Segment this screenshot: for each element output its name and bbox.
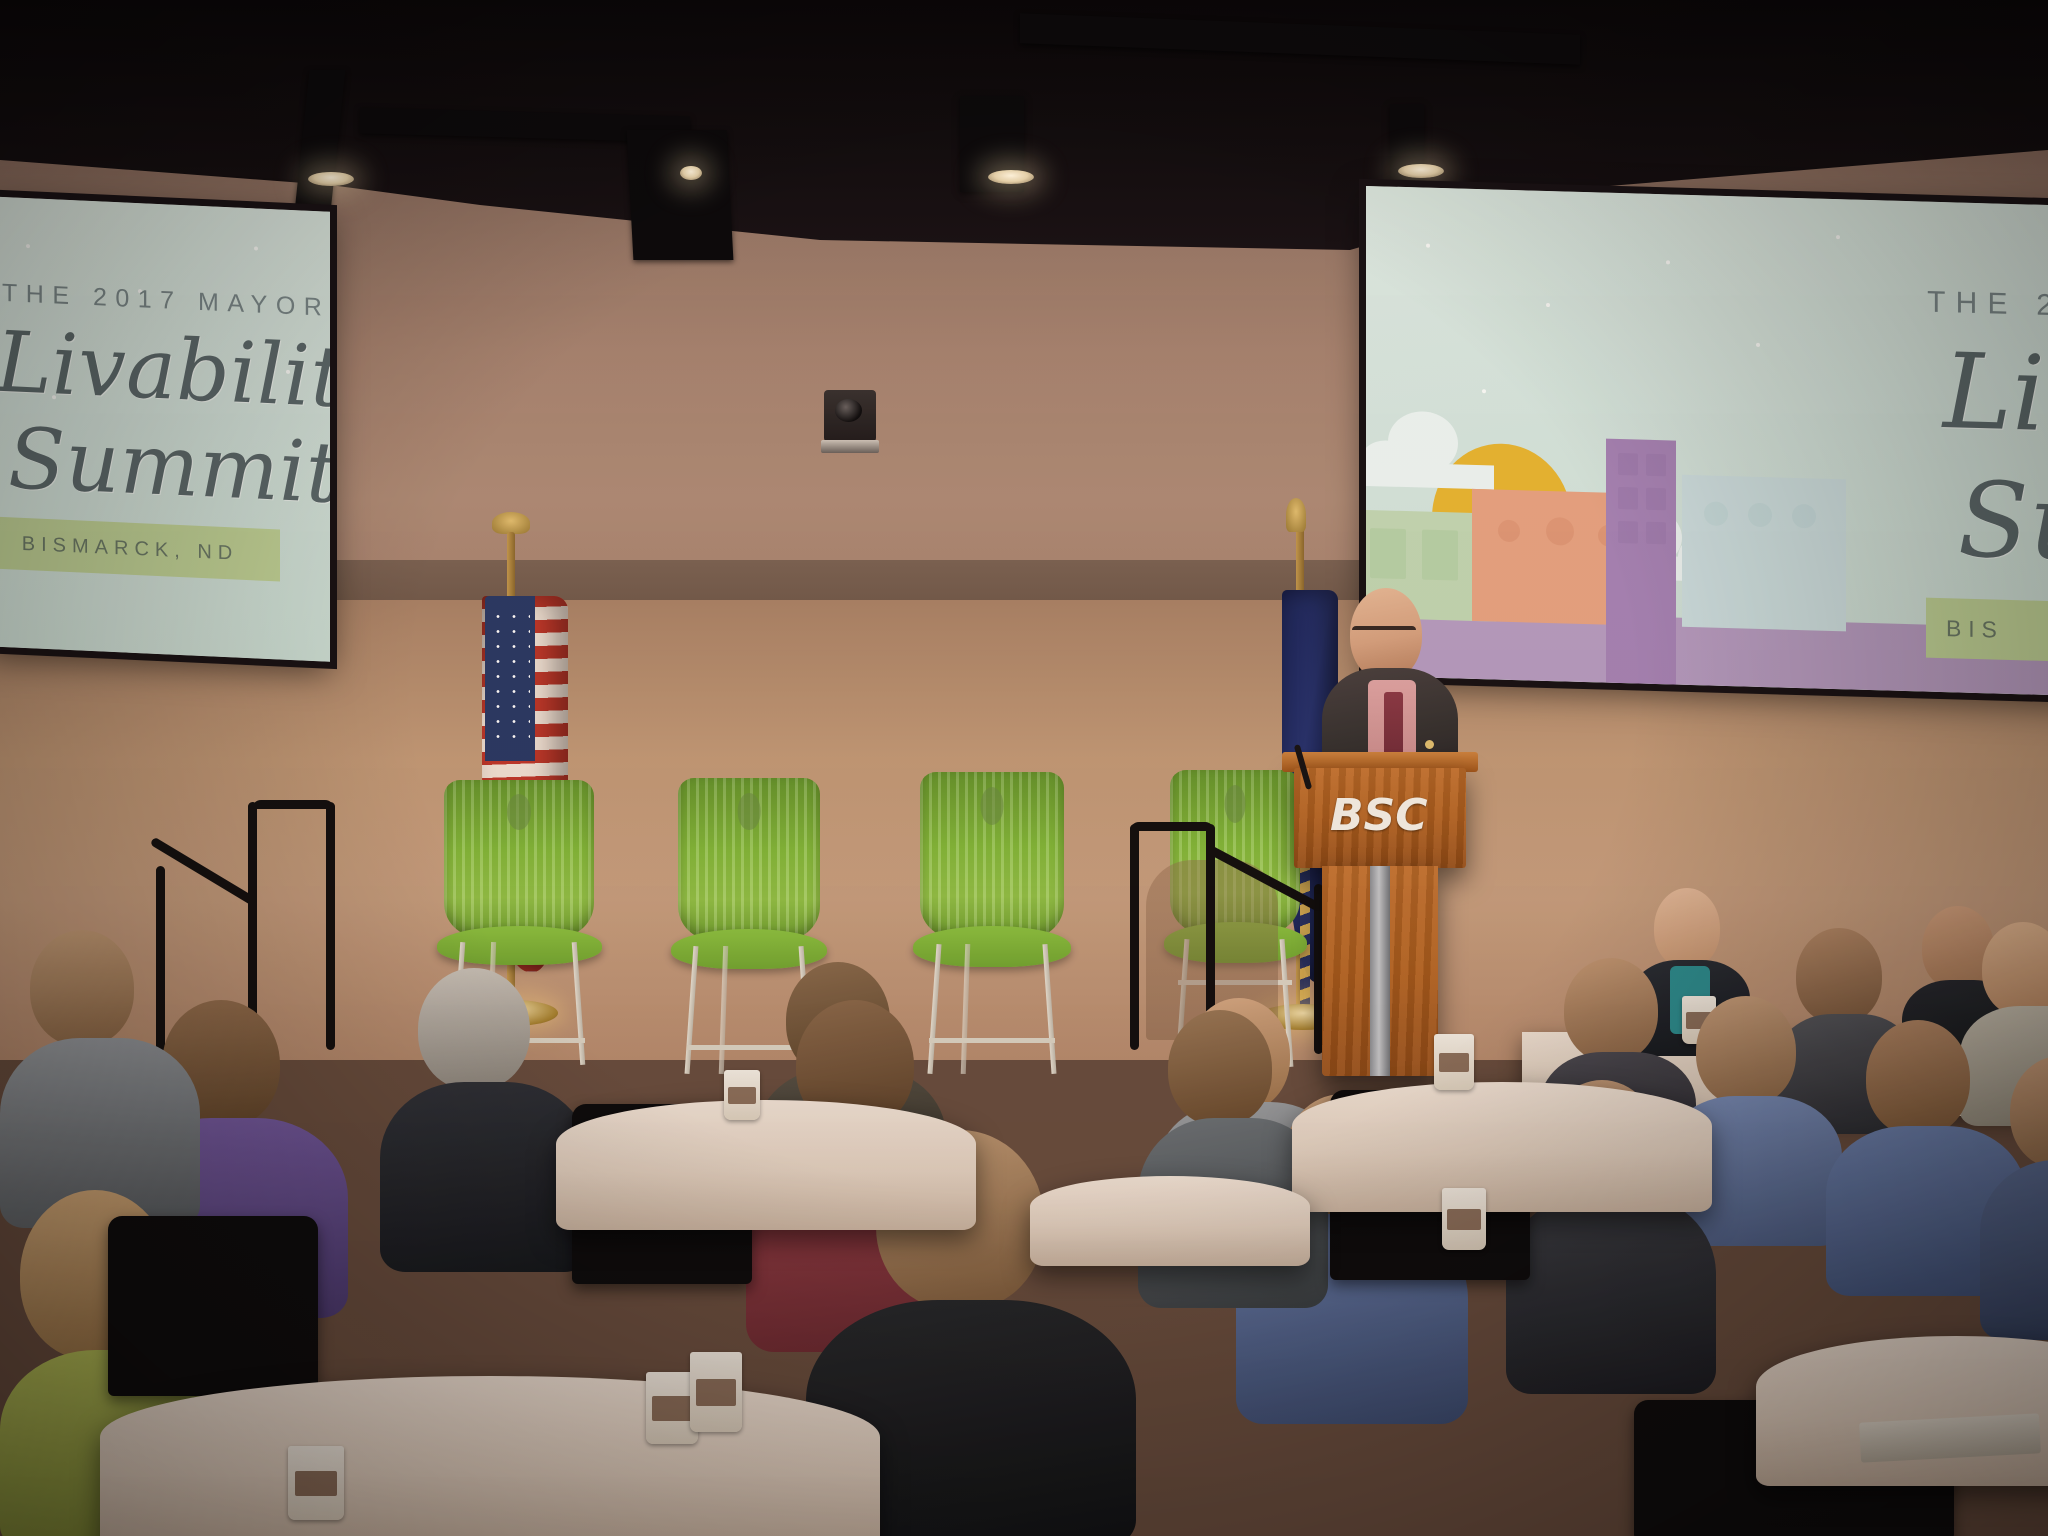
audience-member bbox=[0, 930, 190, 1210]
round-table bbox=[1030, 1176, 1310, 1266]
left-slide-title-line-2: Summit bbox=[8, 409, 330, 522]
coffee-cup bbox=[1442, 1188, 1486, 1250]
flag-finial-eagle bbox=[492, 512, 530, 534]
right-slide-title-line-2: Su bbox=[1958, 458, 2048, 584]
flag-finial-spear bbox=[1286, 498, 1306, 532]
coffee-cup bbox=[1434, 1034, 1474, 1090]
conference-hall-photo: THE 2017 MAYOR'S Livability Summit BISMA… bbox=[0, 0, 2048, 1536]
audience-member bbox=[1980, 1056, 2048, 1306]
speaker-podium[interactable]: BSC bbox=[1294, 768, 1466, 868]
wall-mounted-ptz-camera bbox=[824, 390, 876, 442]
banquet-chair[interactable] bbox=[108, 1216, 318, 1396]
right-projection-screen[interactable]: THE 20 Liv Su BIS bbox=[1366, 186, 2048, 696]
right-slide-location-band: BIS bbox=[1926, 598, 2048, 664]
tree-shape bbox=[1454, 550, 1494, 635]
speaker-glasses bbox=[1352, 626, 1416, 638]
flag-canton bbox=[485, 596, 535, 761]
round-table-foreground bbox=[100, 1376, 880, 1536]
coffee-cup bbox=[690, 1352, 742, 1432]
recessed-downlight bbox=[680, 166, 702, 180]
right-slide-title-line-1: Liv bbox=[1943, 330, 2048, 456]
ceiling-beam bbox=[627, 130, 734, 260]
tree-shape bbox=[1506, 566, 1548, 645]
podium-logo-bsc: BSC bbox=[1330, 790, 1428, 841]
cloud-shape bbox=[1366, 424, 1510, 490]
coffee-cup bbox=[288, 1446, 344, 1520]
audience-member bbox=[380, 968, 580, 1258]
recessed-downlight bbox=[308, 172, 354, 186]
podium-stem bbox=[1370, 866, 1390, 1076]
speaker-lapel-pin bbox=[1425, 740, 1434, 749]
round-table bbox=[1756, 1336, 2048, 1486]
building-pale-blue-block bbox=[1682, 475, 1846, 632]
round-table bbox=[1292, 1082, 1712, 1212]
recessed-downlight bbox=[988, 170, 1034, 184]
left-projection-screen[interactable]: THE 2017 MAYOR'S Livability Summit BISMA… bbox=[0, 196, 330, 662]
recessed-downlight bbox=[1398, 164, 1444, 178]
tree-shape bbox=[1662, 554, 1706, 645]
coffee-cup bbox=[724, 1070, 760, 1120]
left-slide-location-label: BISMARCK, ND bbox=[22, 532, 238, 565]
right-slide-kicker: THE 20 bbox=[1927, 286, 2048, 325]
right-slide-location-label: BIS bbox=[1946, 615, 2004, 644]
round-table bbox=[556, 1100, 976, 1230]
